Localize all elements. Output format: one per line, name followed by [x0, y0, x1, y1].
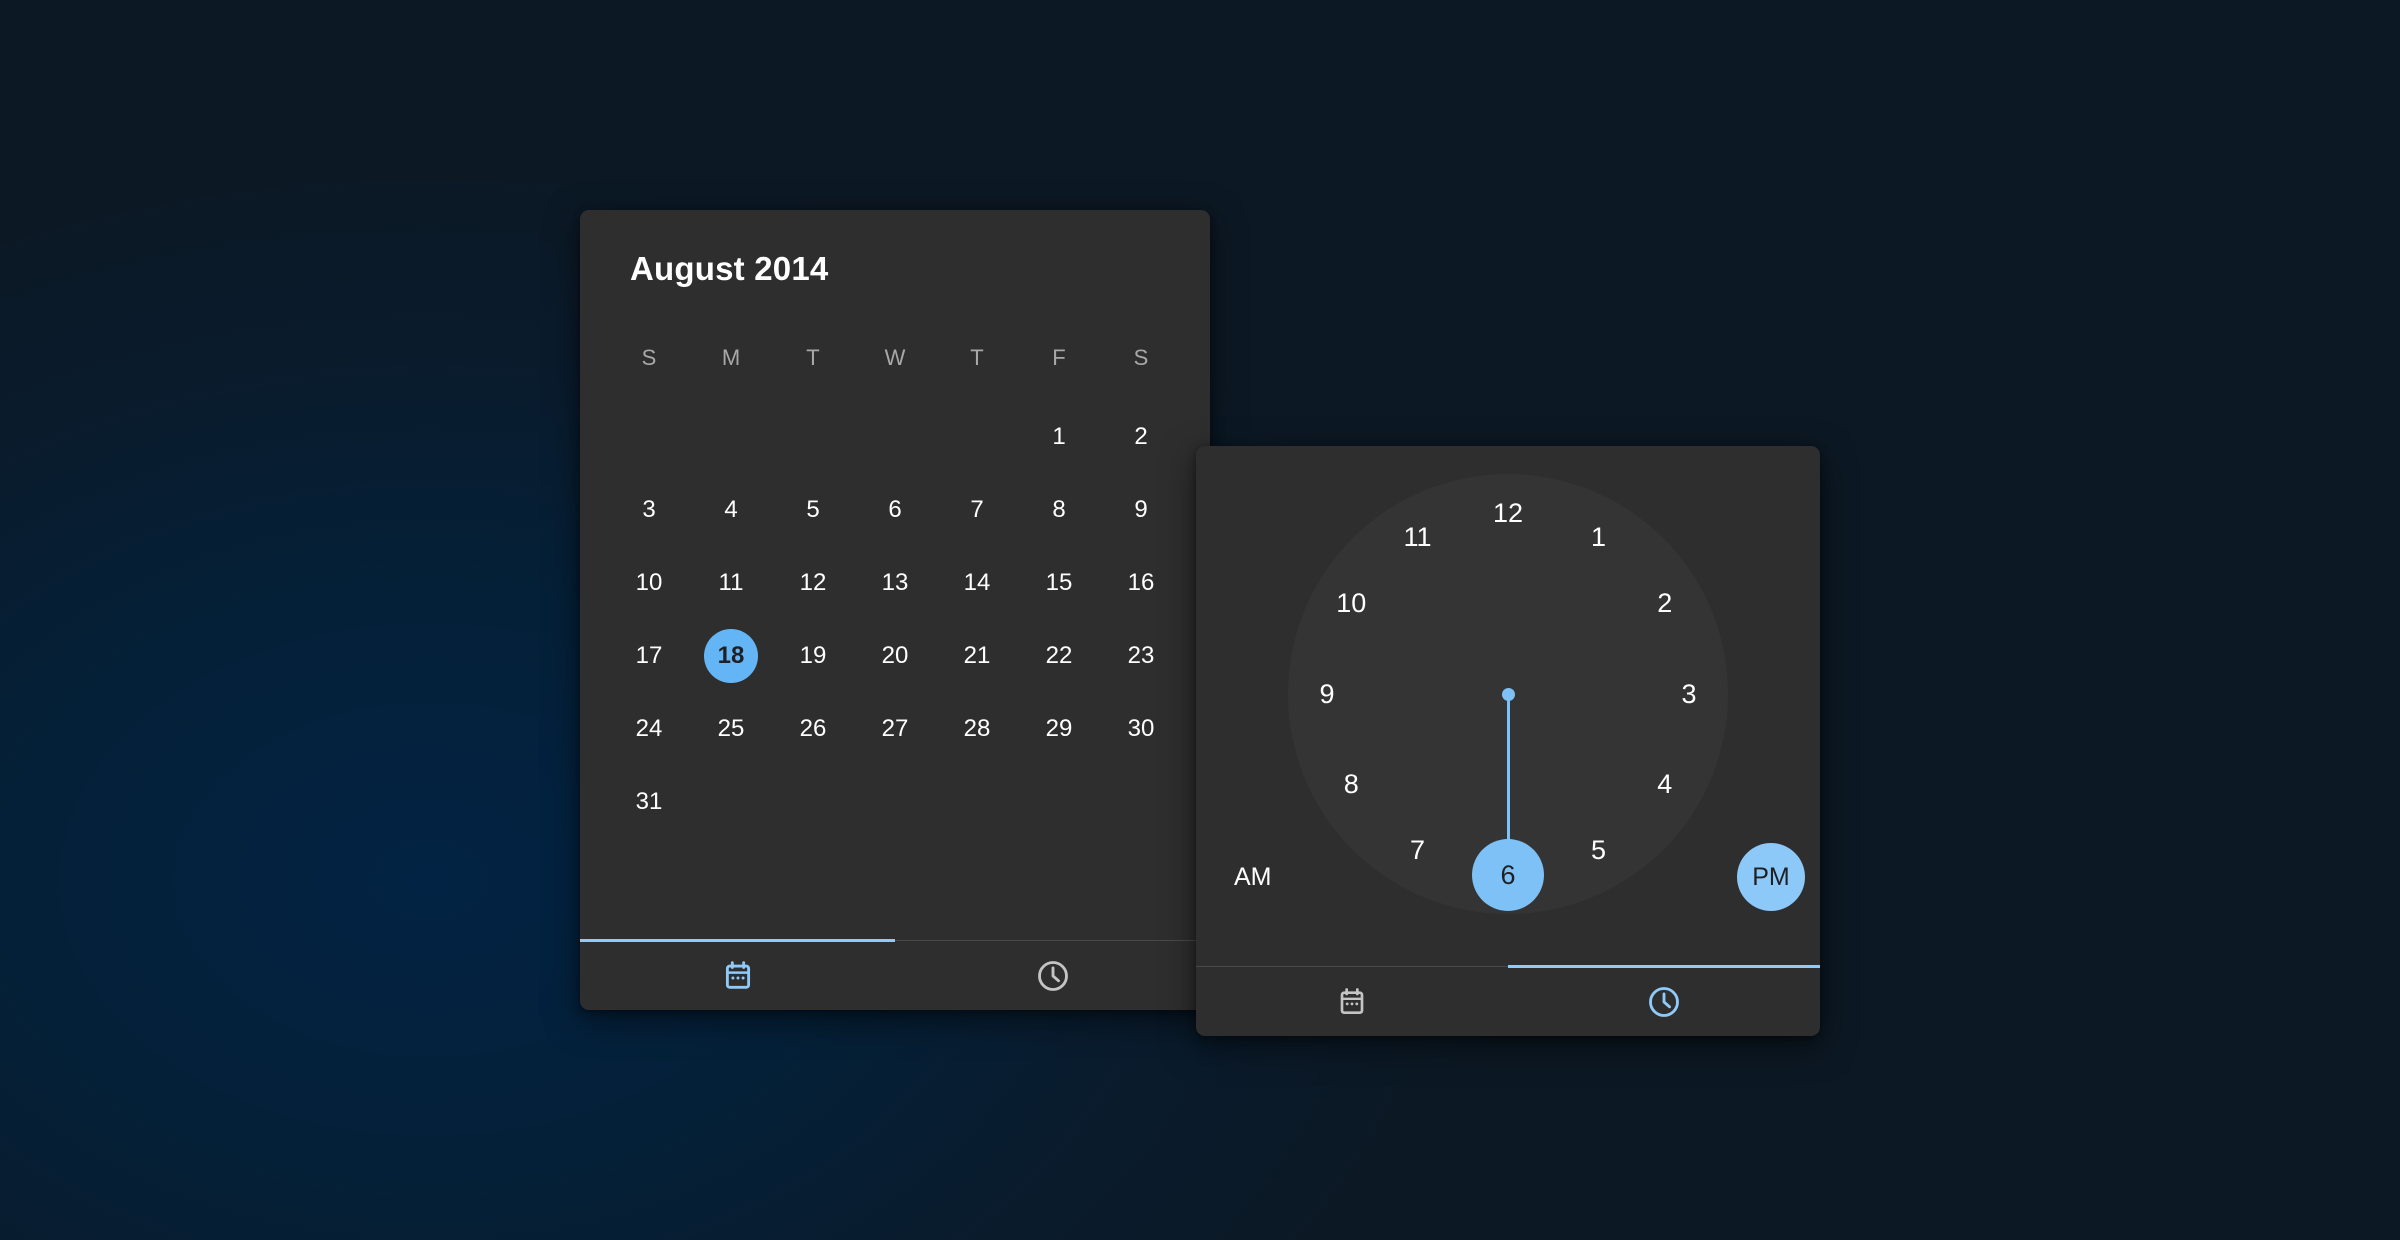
tab-time[interactable]: [895, 941, 1210, 1010]
calendar-day[interactable]: 5: [772, 473, 854, 546]
calendar-day[interactable]: 9: [1100, 473, 1182, 546]
calendar-day-selected[interactable]: 18: [690, 619, 772, 692]
weekday-header-row: SMTWTFS: [580, 338, 1210, 378]
calendar-day[interactable]: 8: [1018, 473, 1100, 546]
calendar-day[interactable]: 12: [772, 546, 854, 619]
calendar-day-label: 2: [1134, 423, 1147, 451]
calendar-day-label: 30: [1128, 715, 1155, 743]
calendar-day-label: 28: [964, 715, 991, 743]
calendar-day-label: 3: [642, 496, 655, 524]
calendar-day-label: 1: [1052, 423, 1065, 451]
clock-icon: [1035, 958, 1071, 994]
clock-hour[interactable]: 3: [1662, 667, 1716, 721]
calendar-day[interactable]: 26: [772, 692, 854, 765]
clock-hour-label: 4: [1657, 769, 1672, 800]
calendar-day[interactable]: 4: [690, 473, 772, 546]
calendar-day[interactable]: 2: [1100, 400, 1182, 473]
clock-hour-label: 11: [1403, 522, 1431, 553]
calendar-day-label: 20: [882, 642, 909, 670]
weekday-label: F: [1018, 338, 1100, 378]
calendar-day-label: 18: [718, 642, 745, 670]
weekday-label: S: [1100, 338, 1182, 378]
calendar-day[interactable]: 20: [854, 619, 936, 692]
calendar-day[interactable]: 16: [1100, 546, 1182, 619]
clock-hour-label: 7: [1410, 835, 1425, 866]
calendar-day-label: 10: [636, 569, 663, 597]
calendar-day[interactable]: 7: [936, 473, 1018, 546]
calendar-day[interactable]: 15: [1018, 546, 1100, 619]
weekday-label: W: [854, 338, 936, 378]
clock-hour-label: 1: [1591, 522, 1606, 553]
calendar-day-label: 25: [718, 715, 745, 743]
calendar-day-label: 27: [882, 715, 909, 743]
calendar-icon: [721, 959, 755, 993]
clock-hour[interactable]: 10: [1324, 577, 1378, 631]
clock-hour[interactable]: 4: [1638, 758, 1692, 812]
clock-hour-label: 6: [1500, 860, 1515, 891]
clock-hour-label: 12: [1493, 498, 1523, 529]
calendar-day-grid: 1234567891011121314151617181920212223242…: [580, 400, 1210, 838]
weekday-label: T: [936, 338, 1018, 378]
clock-hour[interactable]: 1: [1572, 510, 1626, 564]
calendar-day-empty: [608, 400, 690, 473]
calendar-day-label: 9: [1134, 496, 1147, 524]
clock-hour-label: 3: [1681, 679, 1696, 710]
time-picker-dialog: 121234567891011 AM PM: [1196, 446, 1820, 1036]
tab-date[interactable]: [580, 941, 895, 1010]
weekday-label: T: [772, 338, 854, 378]
weekday-label: S: [608, 338, 690, 378]
clock-hour[interactable]: 8: [1324, 758, 1378, 812]
calendar-day[interactable]: 24: [608, 692, 690, 765]
calendar-day-label: 15: [1046, 569, 1073, 597]
calendar-day-label: 16: [1128, 569, 1155, 597]
clock-hour-label: 10: [1336, 588, 1366, 619]
clock-hour[interactable]: 11: [1391, 510, 1445, 564]
calendar-day-empty: [854, 400, 936, 473]
tab-time[interactable]: [1508, 967, 1820, 1036]
calendar-day-label: 4: [724, 496, 737, 524]
calendar-day[interactable]: 29: [1018, 692, 1100, 765]
clock-hour-label: 2: [1657, 588, 1672, 619]
calendar-day-empty: [772, 400, 854, 473]
clock-hour[interactable]: 5: [1572, 824, 1626, 878]
calendar-day-label: 19: [800, 642, 827, 670]
date-picker-dialog: August 2014 SMTWTFS 12345678910111213141…: [580, 210, 1210, 1010]
am-label: AM: [1234, 863, 1272, 892]
calendar-day-label: 11: [719, 569, 744, 597]
calendar-day[interactable]: 1: [1018, 400, 1100, 473]
pm-label: PM: [1752, 863, 1790, 892]
calendar-day[interactable]: 11: [690, 546, 772, 619]
clock-hour[interactable]: 12: [1481, 486, 1535, 540]
pm-button[interactable]: PM: [1737, 843, 1805, 911]
calendar-day-label: 7: [970, 496, 983, 524]
calendar-icon: [1336, 986, 1368, 1018]
calendar-day-label: 12: [800, 569, 827, 597]
calendar-day-label: 13: [882, 569, 909, 597]
calendar-day-label: 21: [964, 642, 991, 670]
date-picker-tabbar: [580, 940, 1210, 1010]
calendar-day[interactable]: 10: [608, 546, 690, 619]
am-button[interactable]: AM: [1234, 843, 1324, 911]
calendar-day[interactable]: 19: [772, 619, 854, 692]
clock-hour-label: 9: [1319, 679, 1334, 710]
clock-icon: [1646, 984, 1682, 1020]
weekday-label: M: [690, 338, 772, 378]
clock-hour-label: 5: [1591, 835, 1606, 866]
calendar-day[interactable]: 6: [854, 473, 936, 546]
calendar-day[interactable]: 22: [1018, 619, 1100, 692]
calendar-day-label: 17: [636, 642, 663, 670]
calendar-header: August 2014: [580, 210, 1210, 330]
calendar-day[interactable]: 13: [854, 546, 936, 619]
clock-hour[interactable]: 2: [1638, 577, 1692, 631]
calendar-day-label: 31: [636, 788, 663, 816]
calendar-day-label: 5: [806, 496, 819, 524]
calendar-day[interactable]: 31: [608, 765, 690, 838]
calendar-day-label: 8: [1052, 496, 1065, 524]
calendar-day[interactable]: 30: [1100, 692, 1182, 765]
calendar-day[interactable]: 17: [608, 619, 690, 692]
clock-hour-selected[interactable]: 6: [1481, 848, 1535, 902]
tab-date[interactable]: [1196, 967, 1508, 1036]
calendar-day-label: 29: [1046, 715, 1073, 743]
calendar-day-empty: [690, 400, 772, 473]
calendar-day-empty: [936, 400, 1018, 473]
calendar-day[interactable]: 27: [854, 692, 936, 765]
clock-center-dot: [1502, 688, 1515, 701]
calendar-day-label: 6: [888, 496, 901, 524]
clock-hour[interactable]: 9: [1300, 667, 1354, 721]
calendar-day[interactable]: 28: [936, 692, 1018, 765]
calendar-day[interactable]: 25: [690, 692, 772, 765]
clock-hour-label: 8: [1344, 769, 1359, 800]
calendar-day[interactable]: 3: [608, 473, 690, 546]
calendar-day[interactable]: 14: [936, 546, 1018, 619]
calendar-month-year-label[interactable]: August 2014: [630, 250, 828, 288]
calendar-day[interactable]: 21: [936, 619, 1018, 692]
calendar-day-label: 23: [1128, 642, 1155, 670]
calendar-day[interactable]: 23: [1100, 619, 1182, 692]
time-picker-tabbar: [1196, 966, 1820, 1036]
calendar-day-label: 26: [800, 715, 827, 743]
clock-hour[interactable]: 7: [1391, 824, 1445, 878]
calendar-day-label: 24: [636, 715, 663, 743]
calendar-day-label: 14: [964, 569, 991, 597]
calendar-day-label: 22: [1046, 642, 1073, 670]
